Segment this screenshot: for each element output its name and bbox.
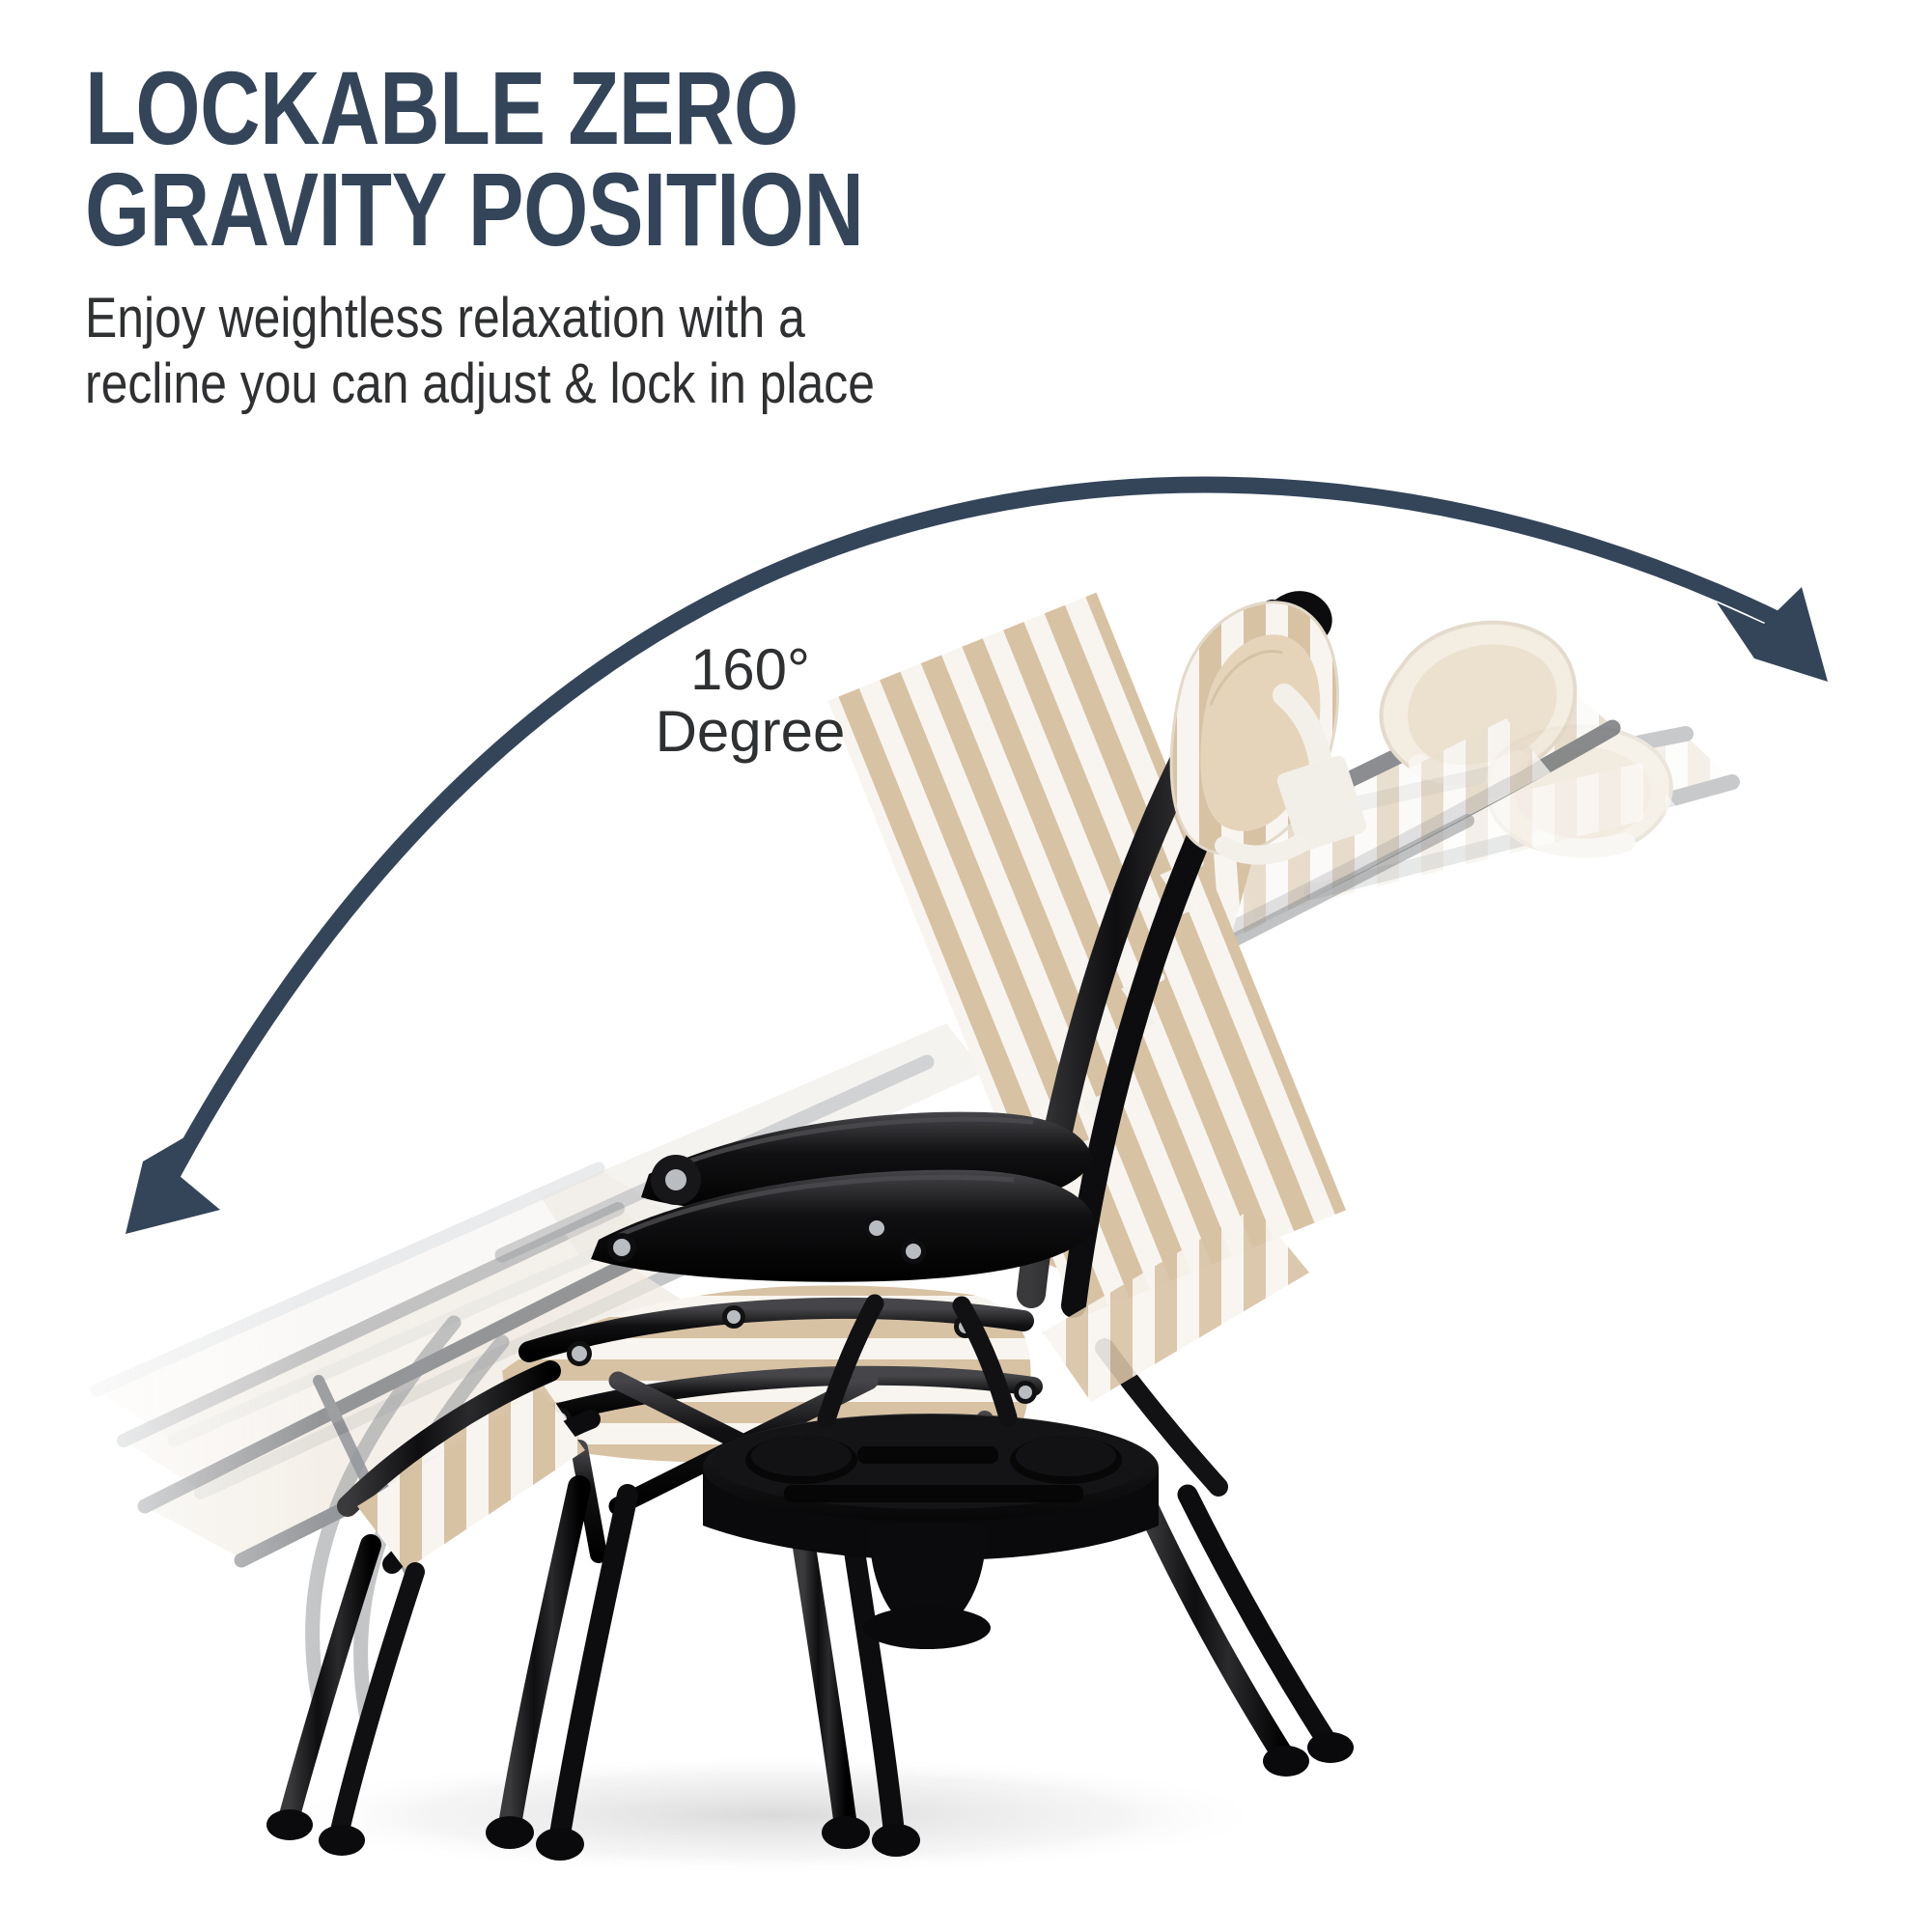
arrow-head-left: [126, 1128, 220, 1234]
foot-cap: [266, 1809, 313, 1840]
tray-slot-lower: [784, 1485, 1083, 1502]
headline-block: LOCKABLE ZERO GRAVITY POSITION Enjoy wei…: [85, 58, 1195, 417]
zero-gravity-chair: [266, 591, 1368, 1861]
headrest-pillow: [1171, 602, 1368, 855]
degree-value: 160°: [649, 639, 852, 701]
degree-word: Degree: [649, 701, 852, 763]
subheading-line1: Enjoy weightless relaxation with a: [85, 261, 1040, 351]
cup-holder-tray[interactable]: [703, 1414, 1159, 1649]
page-title-line1: LOCKABLE ZERO: [85, 58, 973, 159]
page-title-line2: GRAVITY POSITION: [85, 159, 973, 261]
foot-cap: [319, 1825, 365, 1856]
degree-annotation: 160° Degree: [649, 639, 852, 762]
floor-shadow: [270, 1755, 1274, 1875]
marketing-banner: LOCKABLE ZERO GRAVITY POSITION Enjoy wei…: [0, 0, 1932, 1932]
tray-slot-upper: [857, 1446, 998, 1464]
subheading-line2: recline you can adjust & lock in place: [85, 351, 1040, 417]
